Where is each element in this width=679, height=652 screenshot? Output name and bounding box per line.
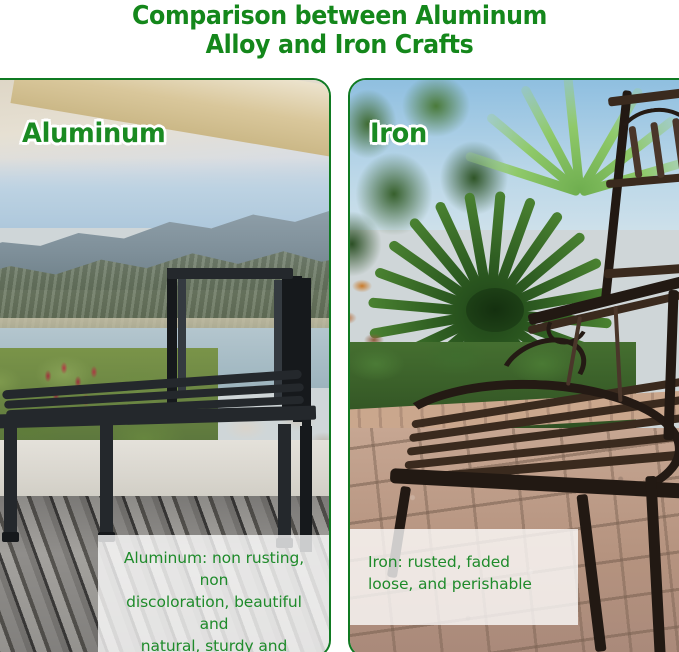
page-title: Comparison between Aluminum Alloy and Ir… (0, 2, 679, 60)
panel-iron: Iron Iron: rusted, faded loose, and peri… (348, 78, 679, 652)
panel-aluminum: Aluminum Aluminum: non rusting, non disc… (0, 78, 331, 652)
caption-aluminum-line-1: Aluminum: non rusting, non (112, 547, 316, 591)
panel-label-aluminum: Aluminum (22, 118, 165, 150)
caption-iron-line-2: loose, and perishable (368, 573, 564, 595)
title-line-1: Comparison between Aluminum (24, 2, 655, 31)
title-line-2: Alloy and Iron Crafts (24, 31, 655, 60)
caption-aluminum-line-2: discoloration, beautiful and (112, 591, 316, 635)
caption-aluminum-line-3: natural, sturdy and durable (112, 635, 316, 652)
caption-iron: Iron: rusted, faded loose, and perishabl… (350, 529, 578, 625)
caption-iron-line-1: Iron: rusted, faded (368, 551, 564, 573)
panel-label-iron: Iron (370, 118, 427, 150)
caption-aluminum: Aluminum: non rusting, non discoloration… (98, 535, 330, 652)
comparison-panels: Aluminum Aluminum: non rusting, non disc… (0, 78, 679, 652)
comparison-infographic: Comparison between Aluminum Alloy and Ir… (0, 0, 679, 652)
